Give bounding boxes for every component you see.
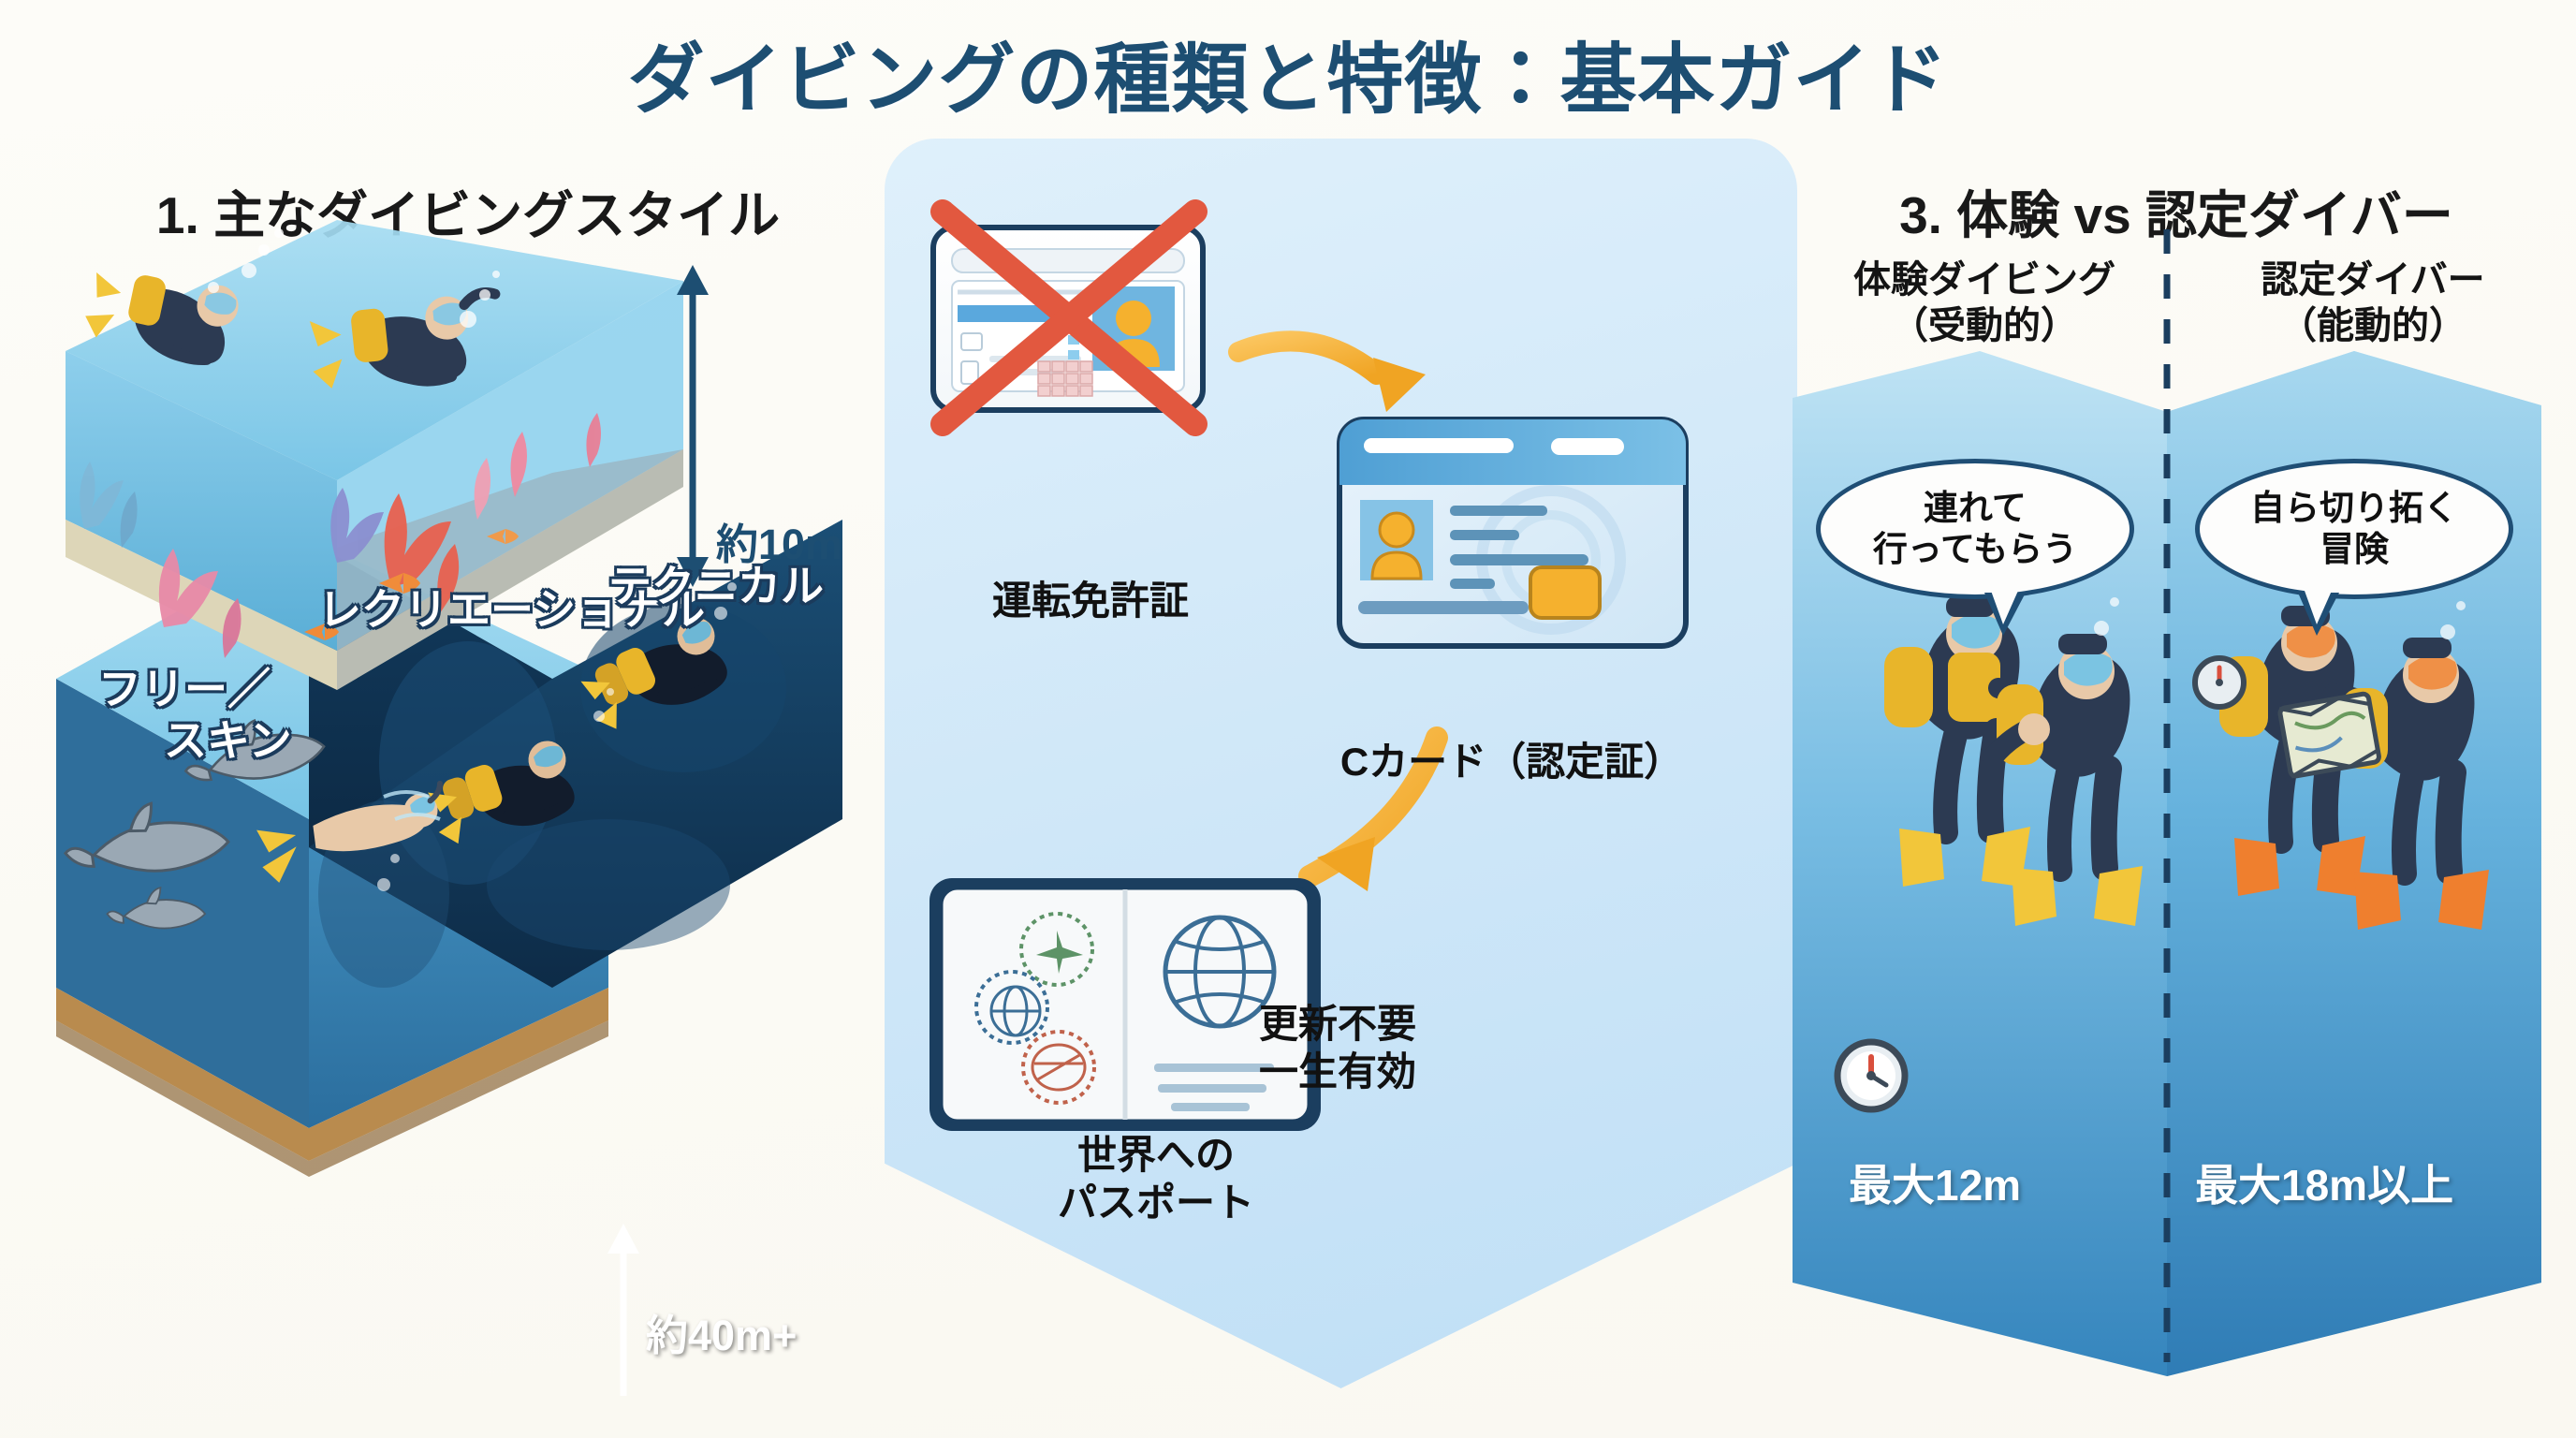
arrow-head-1 — [1373, 358, 1426, 412]
speech-bubble-experience-line2: 行ってもらう — [1873, 529, 2077, 570]
speech-bubble-certified-line1: 自ら切り拓く — [2250, 488, 2458, 529]
joined-hands — [2018, 713, 2050, 745]
arrow-license-to-ccard — [1238, 341, 1377, 374]
dive-map-icon — [2279, 693, 2379, 777]
infographic-canvas: ダイビングの種類と特徴：基本ガイド 1. 主なダイビングスタイル 2. Cカード… — [0, 0, 2576, 1438]
speech-bubble-tail-right — [2298, 593, 2339, 636]
label-freedive-line2: スキン — [164, 707, 292, 769]
caption-no-renewal: 更新不要 一生有効 — [1259, 1000, 1633, 1095]
pressure-gauge-icon — [1837, 1042, 1905, 1109]
caption-no-renewal-line1: 更新不要 — [1259, 1000, 1633, 1048]
section-heading-experience-vs-certified: 3. 体験 vs 認定ダイバー — [1807, 173, 2546, 248]
speech-bubble-certified-line2: 冒険 — [2250, 529, 2458, 570]
subtitle-experience-line1: 体験ダイビング — [1802, 257, 2167, 303]
speech-bubble-tail-left — [1984, 593, 2026, 636]
caption-no-renewal-line2: 一生有効 — [1259, 1048, 1633, 1095]
subtitle-certified-line1: 認定ダイバー — [2186, 257, 2560, 303]
caption-ccard: Cカード（認定証） — [1231, 738, 1793, 785]
depth-label-deep: 約40m+ — [646, 1301, 797, 1362]
caption-passport-line1: 世界への — [941, 1131, 1371, 1179]
depth-label-shallow: 約10m — [716, 510, 842, 571]
caption-passport-line2: パスポート — [941, 1179, 1371, 1226]
caption-passport: 世界への パスポート — [941, 1131, 1371, 1226]
depth-arrow-deep — [607, 1224, 639, 1396]
panel-2-ccard-role: 運転免許証 Cカード（認定証） 更新不要 一生有効 世界への パスポート — [885, 139, 1797, 1388]
section-heading-diving-styles: 1. 主なダイビングスタイル — [56, 173, 880, 248]
speech-bubble-experience: 連れて 行ってもらう — [1816, 459, 2134, 599]
comparison-diagram — [1793, 239, 2569, 1438]
speech-bubble-experience-line1: 連れて — [1873, 488, 2077, 529]
panel-3-experience-vs-certified: 体験ダイビング （受動的） 認定ダイバー （能動的） 連れて 行ってもらう 自ら… — [1793, 239, 2569, 1438]
speech-bubble-certified: 自ら切り拓く 冒険 — [2195, 459, 2513, 599]
panel-1-diving-styles: レクリエーショナル テクニカル フリー／ スキン 約10m 約40m+ — [28, 239, 899, 1409]
depth-label-certified: 最大18m以上 — [2195, 1152, 2453, 1213]
subtitle-experience-line2: （受動的） — [1802, 303, 2167, 349]
depth-label-experience: 最大12m — [1849, 1152, 2021, 1213]
caption-drivers-license: 運転免許証 — [894, 577, 1287, 624]
subtitle-certified-line2: （能動的） — [2186, 303, 2560, 349]
isometric-depth-diagram — [28, 239, 899, 1409]
subtitle-certified-diver: 認定ダイバー （能動的） — [2186, 257, 2560, 349]
page-title: ダイビングの種類と特徴：基本ガイド — [0, 17, 2576, 128]
ccard-illustration — [1339, 419, 1686, 646]
subtitle-experience-dive: 体験ダイビング （受動的） — [1802, 257, 2167, 349]
